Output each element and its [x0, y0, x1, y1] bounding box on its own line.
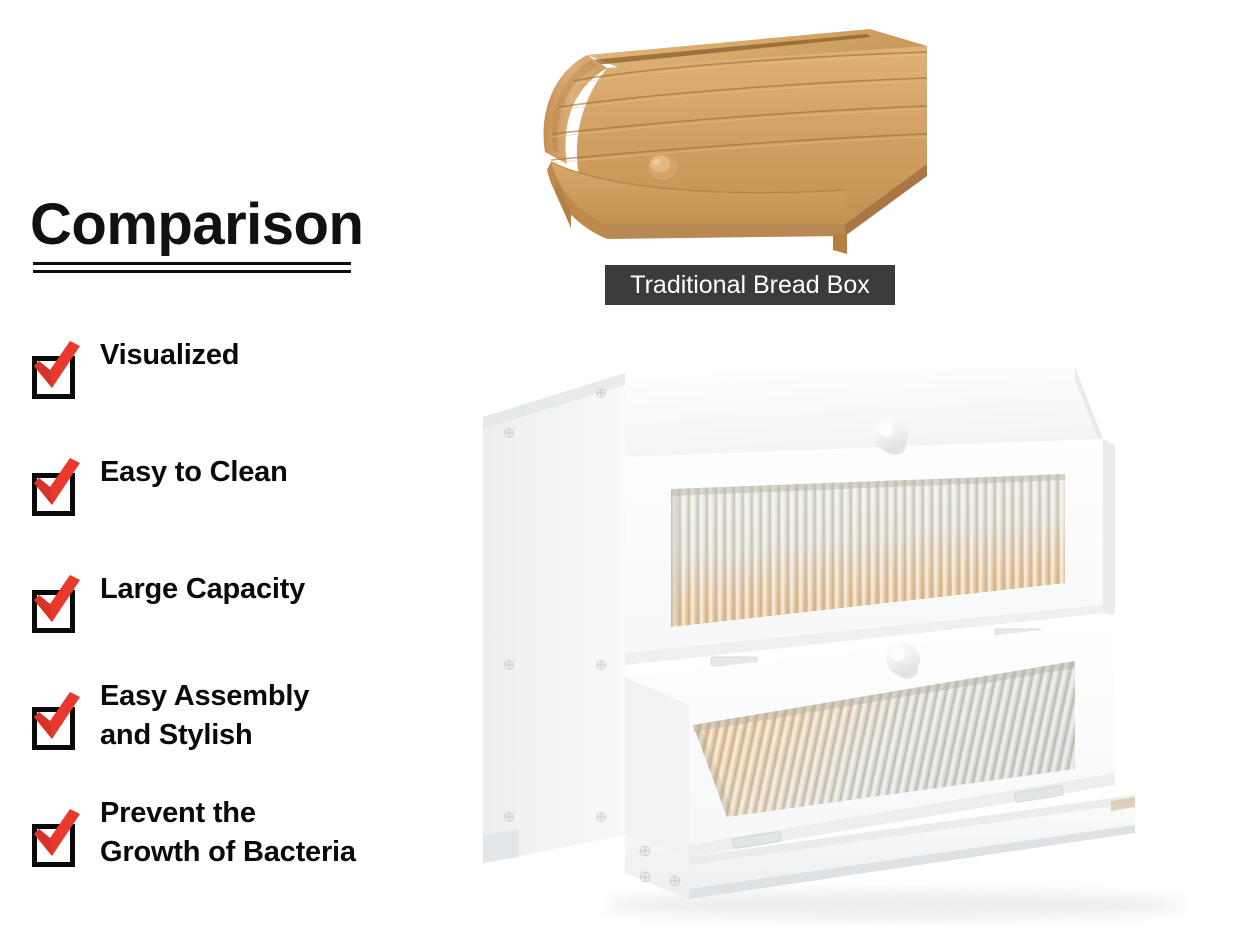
feature-item-prevent-bacteria: Prevent the Growth of Bacteria	[0, 798, 440, 915]
checked-checkbox	[30, 340, 84, 396]
feature-item-easy-assembly: Easy Assembly and Stylish	[0, 681, 440, 798]
white-bread-box-image	[475, 365, 1205, 925]
checked-checkbox	[30, 574, 84, 630]
check-mark-icon	[30, 457, 84, 513]
traditional-bread-box-image	[515, 12, 935, 257]
checked-checkbox	[30, 457, 84, 513]
feature-item-visualized: Visualized	[0, 330, 440, 447]
feature-label: Easy to Clean	[100, 453, 288, 492]
feature-label: Prevent the Growth of Bacteria	[100, 794, 356, 871]
checked-checkbox	[30, 691, 84, 747]
feature-item-easy-to-clean: Easy to Clean	[0, 447, 440, 564]
feature-list: Visualized Easy to Clean	[0, 330, 440, 915]
right-product-panel: Traditional Bread Box	[440, 0, 1250, 948]
feature-label: Large Capacity	[100, 570, 305, 609]
comparison-infographic: Comparison Visualized	[0, 0, 1250, 948]
left-feature-panel: Comparison Visualized	[0, 0, 440, 948]
check-mark-icon	[30, 691, 84, 747]
page-title: Comparison	[30, 196, 363, 254]
feature-label: Visualized	[100, 336, 239, 375]
check-mark-icon	[30, 340, 84, 396]
check-mark-icon	[30, 808, 84, 864]
traditional-bread-box-caption: Traditional Bread Box	[605, 265, 895, 305]
title-double-rule	[33, 262, 351, 273]
feature-label: Easy Assembly and Stylish	[100, 677, 309, 754]
check-mark-icon	[30, 574, 84, 630]
feature-item-large-capacity: Large Capacity	[0, 564, 440, 681]
checked-checkbox	[30, 808, 84, 864]
